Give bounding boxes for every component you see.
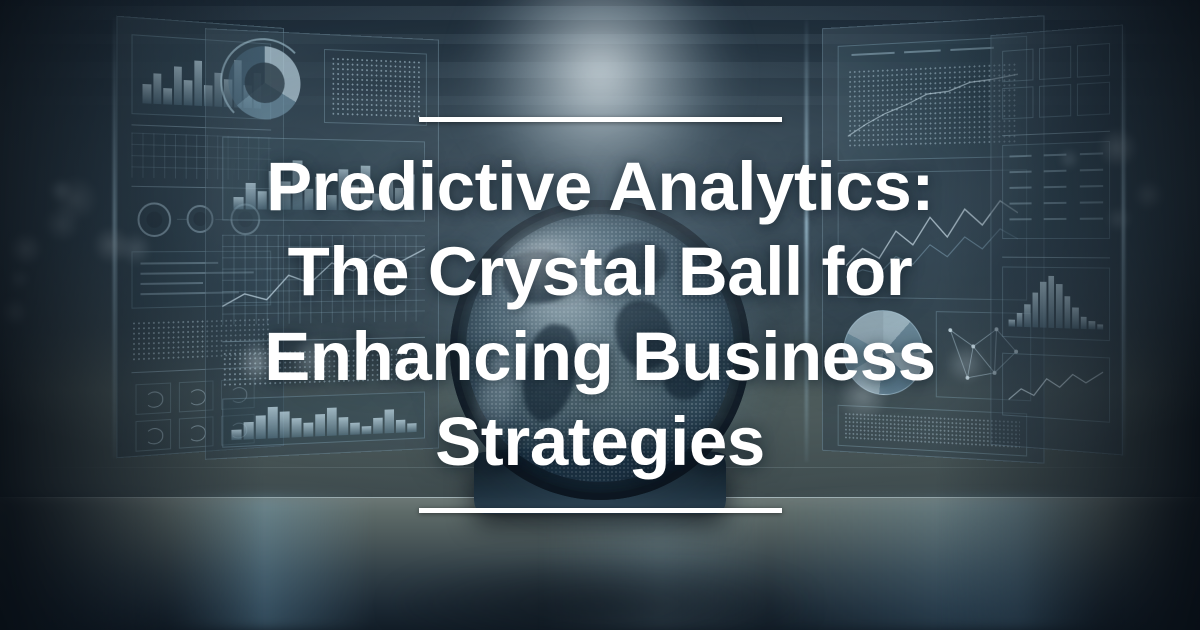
title-line-1: Predictive Analytics: (110, 144, 1090, 229)
title-line-2: The Crystal Ball for (110, 229, 1090, 314)
top-divider (419, 117, 782, 122)
bottom-divider (419, 508, 782, 513)
banner-canvas: Predictive Analytics: The Crystal Ball f… (0, 0, 1200, 630)
title-line-4: Strategies (110, 399, 1090, 484)
page-title: Predictive Analytics: The Crystal Ball f… (110, 144, 1090, 484)
title-line-3: Enhancing Business (110, 314, 1090, 399)
headline-block: Predictive Analytics: The Crystal Ball f… (0, 0, 1200, 630)
